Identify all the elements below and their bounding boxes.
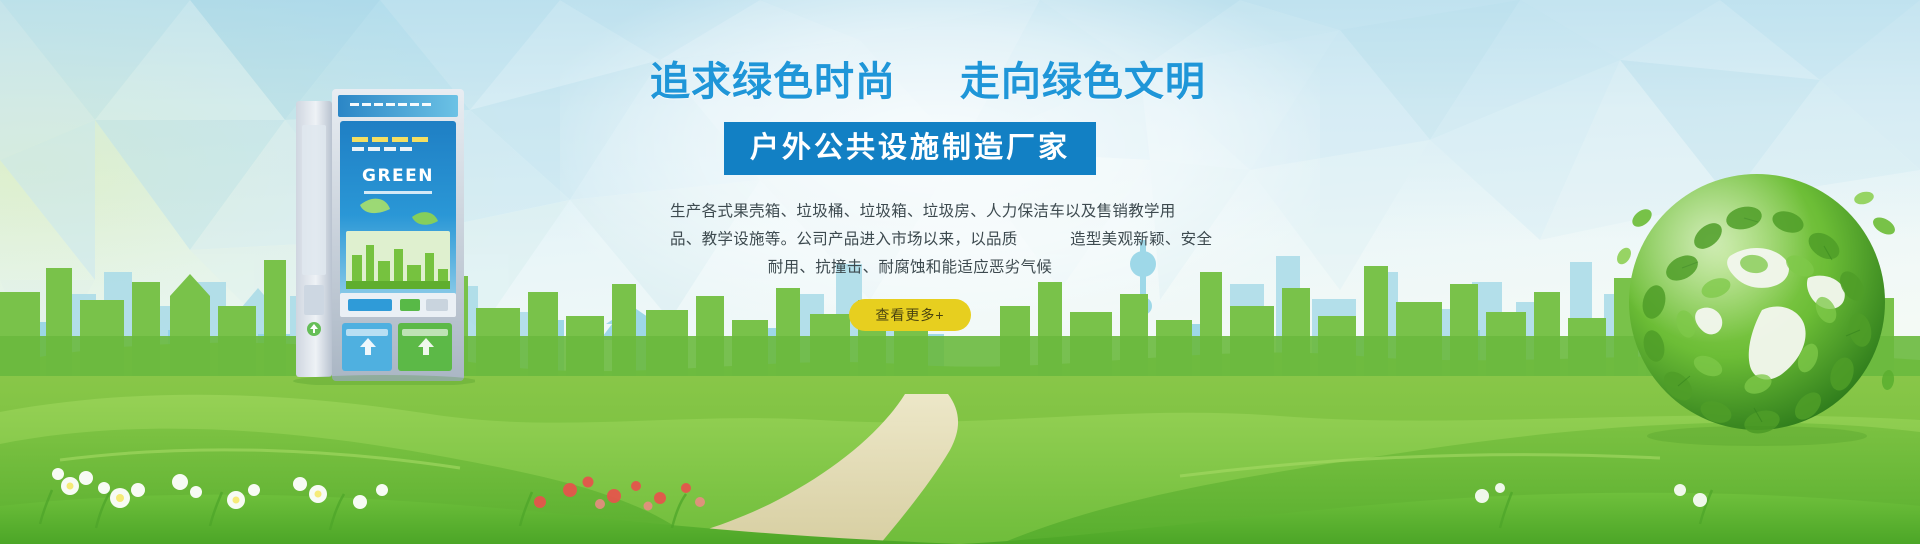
description-line-2b: 造型美观新颖、安全 [1070,230,1212,248]
description-line-2a: 品、教学设施等。公司产品进入市场以来，以品质 [670,230,1018,248]
headline-part-2: 走向绿色文明 [960,59,1206,105]
banner-content: 追求绿色时尚 走向绿色文明 户外公共设施制造厂家 生产各式果壳箱、垃圾桶、垃圾箱… [650,60,1170,331]
subtitle-bar-wrap: 户外公共设施制造厂家 [650,122,1170,175]
subtitle-bar: 户外公共设施制造厂家 [724,122,1096,175]
page-headline: 追求绿色时尚 走向绿色文明 [650,60,1170,104]
leafy-globe-illustration [1612,160,1902,450]
headline-part-1: 追求绿色时尚 [650,59,896,105]
recycling-kiosk-illustration: GREEN [290,85,475,385]
svg-text:GREEN: GREEN [362,166,434,186]
description-line-3: 耐用、抗撞击、耐腐蚀和能适应恶劣气候 [670,253,1150,281]
description-line-1: 生产各式果壳箱、垃圾桶、垃圾箱、垃圾房、人力保洁车以及售销教学用 [670,197,1150,225]
foreground-flowers [0,424,1920,544]
view-more-button[interactable]: 查看更多+ [849,299,970,331]
banner-description: 生产各式果壳箱、垃圾桶、垃圾箱、垃圾房、人力保洁车以及售销教学用 品、教学设施等… [670,197,1150,281]
description-line-2: 品、教学设施等。公司产品进入市场以来，以品质 造型美观新颖、安全 [670,225,1150,253]
hero-banner: GREEN [0,0,1920,544]
